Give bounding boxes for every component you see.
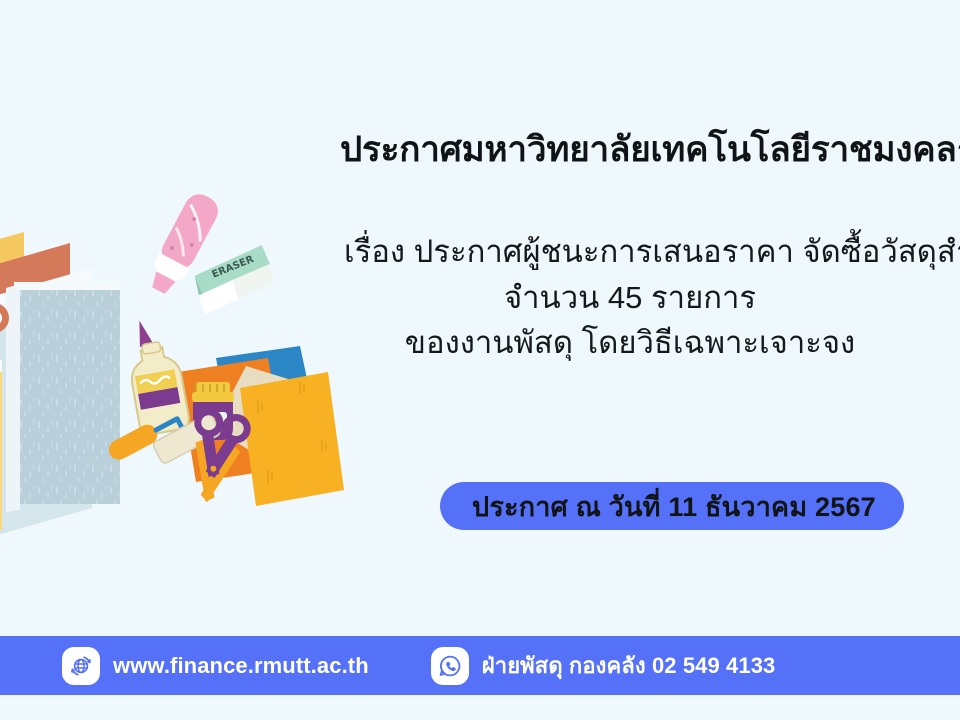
announcement-text-block: ประกาศมหาวิทยาลัยเทคโนโลยีราชมงคลธัญ เรื… <box>330 120 960 390</box>
footer-website-item[interactable]: www.finance.rmutt.ac.th <box>62 647 369 685</box>
method-line: ของงานพัสดุ โดยวิธีเฉพาะเจาะจง <box>330 323 930 363</box>
footer-contact-label: ฝ่ายพัสดุ กองคลัง 02 549 4133 <box>482 648 776 683</box>
paper-cream <box>214 366 330 462</box>
scissors <box>182 410 249 507</box>
highlighter-pen <box>143 189 223 299</box>
paint-roller <box>105 395 221 485</box>
paper-orange <box>178 358 288 482</box>
ink-jar <box>192 382 234 440</box>
eraser: ERASER <box>191 244 277 315</box>
paper-blue <box>216 346 318 444</box>
svg-text:ERASER: ERASER <box>211 254 256 281</box>
announcement-date-text: ประกาศ ณ วันที่ 11 ธันวาคม 2567 <box>472 485 876 528</box>
footer-contact-bar: www.finance.rmutt.ac.th ฝ่ายพัสดุ กองคลั… <box>0 636 960 695</box>
stationery-and-books-illustration: ERASER <box>0 0 360 640</box>
subject-line: เรื่อง ประกาศผู้ชนะการเสนอราคา จัดซื้อวั… <box>344 232 960 272</box>
page-title: ประกาศมหาวิทยาลัยเทคโนโลยีราชมงคลธัญ <box>340 128 960 172</box>
paper-yellow <box>240 372 344 506</box>
footer-website-label: www.finance.rmutt.ac.th <box>113 653 369 679</box>
glue-bottle <box>122 315 191 436</box>
phone-chat-icon <box>431 647 469 685</box>
paper-stack <box>178 346 344 506</box>
footer-contact-item[interactable]: ฝ่ายพัสดุ กองคลัง 02 549 4133 <box>431 647 776 685</box>
item-count-line: จำนวน 45 รายการ <box>330 278 930 318</box>
globe-icon <box>62 647 100 685</box>
announcement-date-badge: ประกาศ ณ วันที่ 11 ธันวาคม 2567 <box>440 482 904 530</box>
stacked-books <box>0 232 120 540</box>
announcement-poster: ERASER <box>0 0 960 720</box>
